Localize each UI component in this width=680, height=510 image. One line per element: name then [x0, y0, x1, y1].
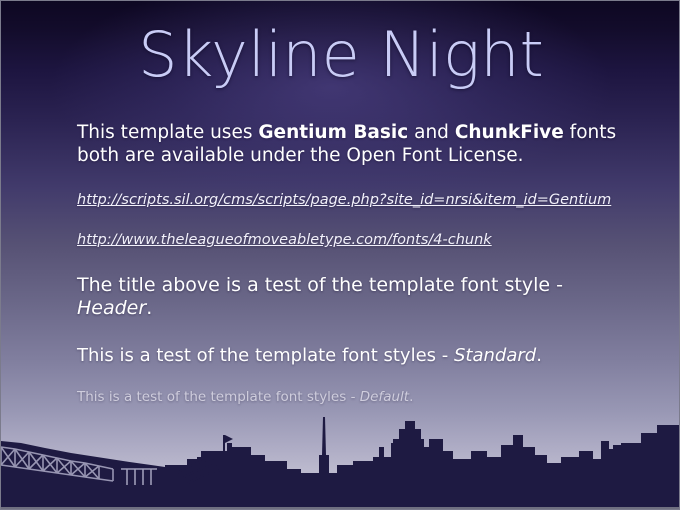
standard-style-text: This is a test of the template font styl… — [77, 345, 454, 366]
intro-text-1: This template uses — [77, 122, 258, 143]
slide-canvas: Skyline Night This template uses Gentium… — [0, 0, 680, 510]
header-style-period: . — [146, 297, 152, 319]
page-title: Skyline Night — [1, 17, 680, 93]
standard-style-period: . — [536, 345, 542, 366]
link-chunkfive[interactable]: http://www.theleagueofmoveabletype.com/f… — [77, 231, 629, 249]
intro-paragraph: This template uses Gentium Basic and Chu… — [77, 121, 629, 167]
bottom-border — [1, 507, 680, 509]
link-gentium[interactable]: http://scripts.sil.org/cms/scripts/page.… — [77, 191, 622, 209]
standard-style-emphasis: Standard — [454, 345, 536, 366]
header-style-emphasis: Header — [77, 297, 146, 319]
slide-body: This template uses Gentium Basic and Chu… — [77, 121, 629, 406]
header-style-text: The title above is a test of the templat… — [77, 274, 563, 296]
intro-bold-gentium: Gentium Basic — [258, 122, 408, 143]
intro-text-2: and — [408, 122, 455, 143]
standard-style-line: This is a test of the template font styl… — [77, 345, 629, 367]
city-skyline-silhouette — [1, 399, 680, 509]
intro-bold-chunkfive: ChunkFive — [455, 122, 564, 143]
header-style-line: The title above is a test of the templat… — [77, 274, 629, 320]
